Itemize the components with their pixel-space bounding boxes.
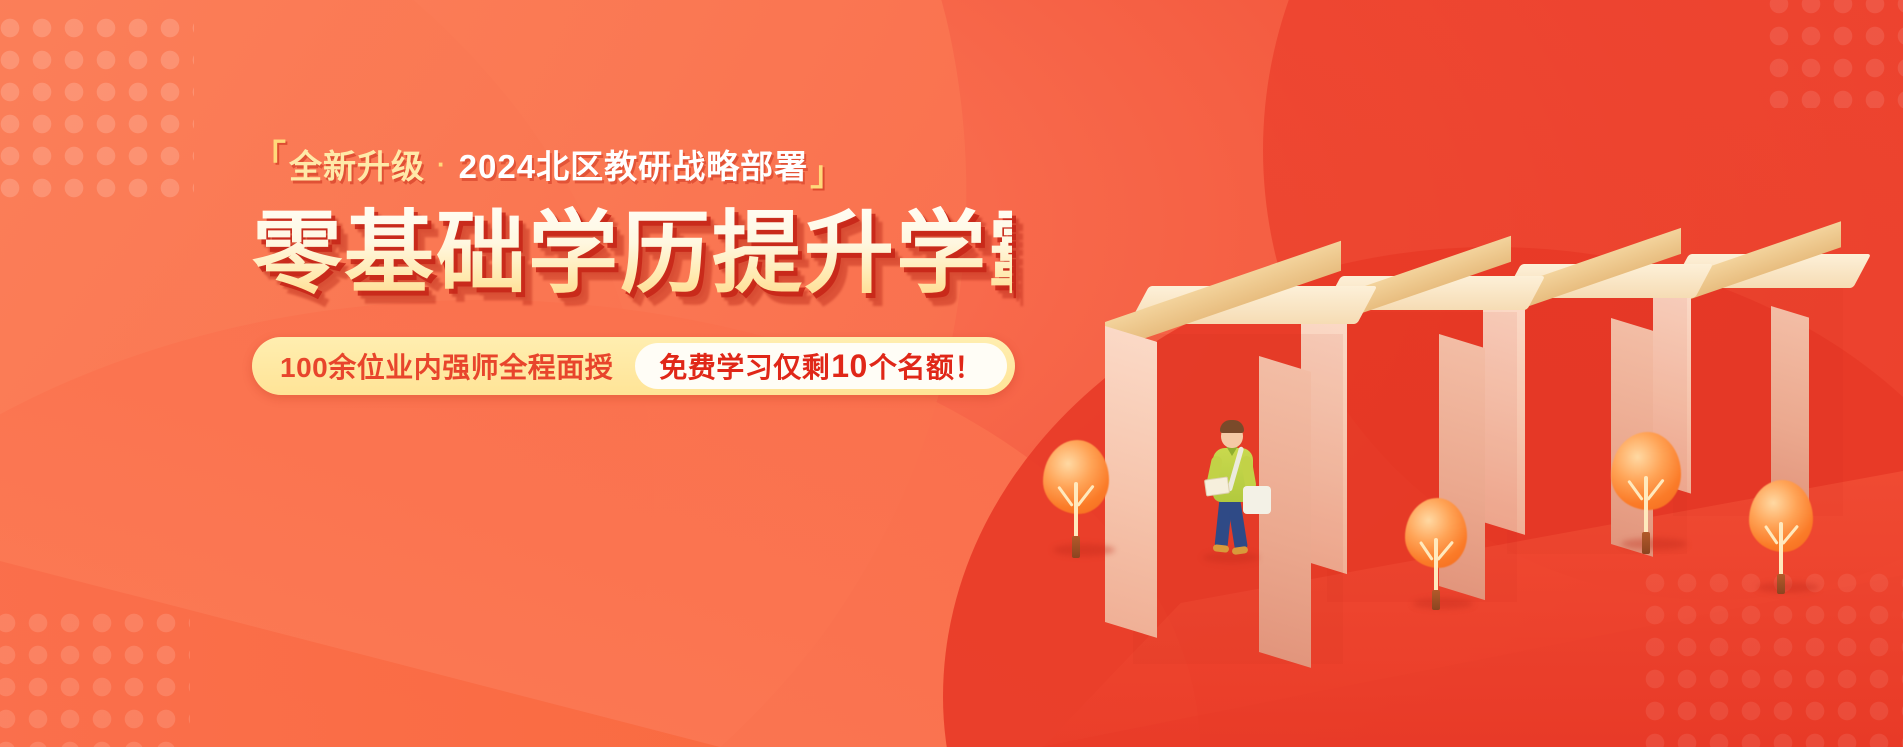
- offer-pill[interactable]: 100余位业内强师全程面授 免费学习仅剩10个名额！: [252, 337, 1015, 395]
- eyebrow-white-text: 2024北区教研战略部署: [457, 150, 810, 183]
- pill-right-badge: 免费学习仅剩10个名额！: [635, 343, 1007, 389]
- tree-far-right: [1749, 480, 1825, 598]
- open-bracket-glyph: 「: [252, 141, 287, 175]
- headline-title: 零基础学历提升学霸班: [252, 206, 1012, 303]
- eyebrow-line: 「 全新升级 · 2024北区教研战略部署 」: [252, 140, 1012, 192]
- dot-grid-top-left: [0, 12, 194, 210]
- tree-right: [1611, 432, 1693, 556]
- close-bracket-glyph: 」: [810, 157, 845, 191]
- dot-grid-bottom-left: [0, 607, 190, 747]
- pill-right-suffix: 个名额！: [869, 346, 983, 386]
- eyebrow-gold-text: 全新升级: [287, 150, 427, 183]
- banner-copy: 「 全新升级 · 2024北区教研战略部署 」 零基础学历提升学霸班 100余位…: [252, 140, 1012, 395]
- pill-left-label: 100余位业内强师全程面授: [280, 346, 635, 386]
- student-figure: [1199, 412, 1289, 562]
- illustration: [1043, 0, 1903, 747]
- pill-right-number: 10: [830, 348, 869, 385]
- promo-banner: 「 全新升级 · 2024北区教研战略部署 」 零基础学历提升学霸班 100余位…: [0, 0, 1903, 747]
- tree-front-left: [1043, 440, 1119, 560]
- tree-mid: [1405, 498, 1481, 614]
- pill-right-prefix: 免费学习仅剩: [659, 346, 830, 386]
- eyebrow-separator: ·: [427, 151, 457, 177]
